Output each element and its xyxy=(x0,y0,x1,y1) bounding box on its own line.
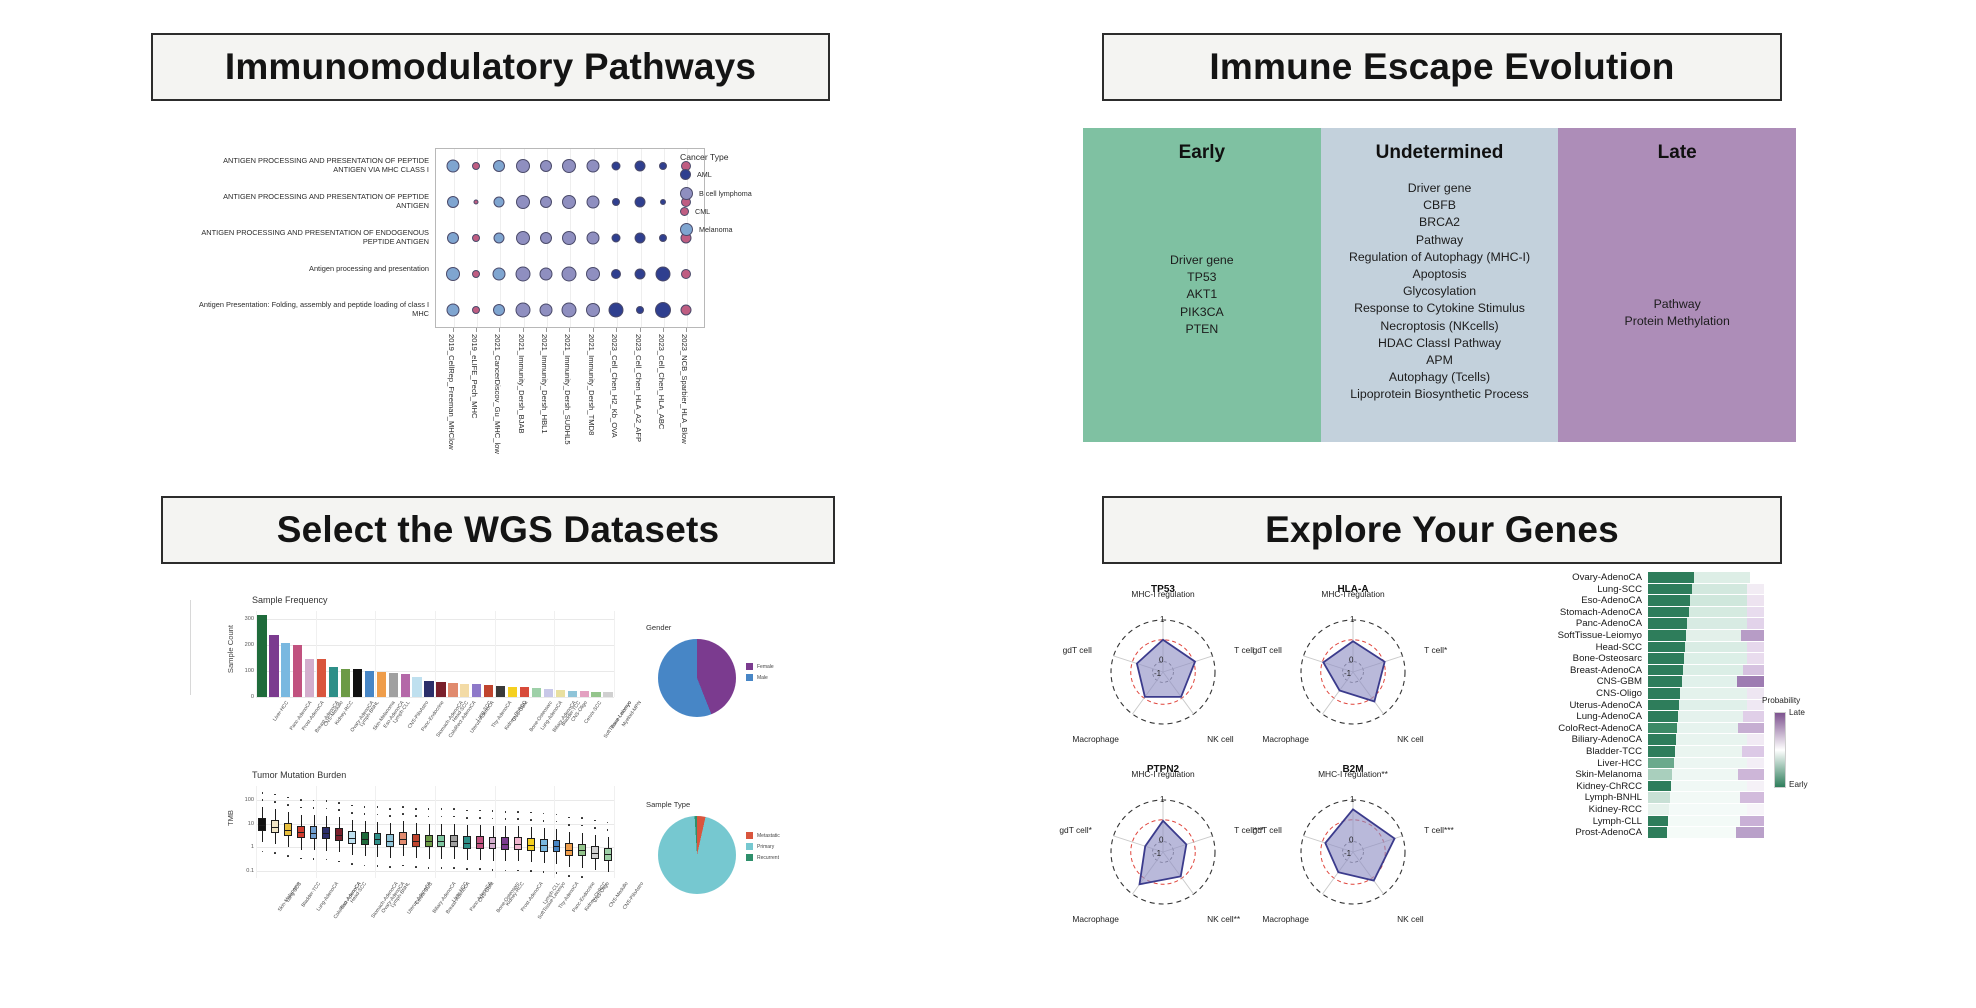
boxplot-outlier xyxy=(351,863,353,865)
pie-legend: MetastaticPrimaryRecurrent xyxy=(746,832,780,865)
heatmap-row[interactable] xyxy=(1648,711,1764,722)
escape-column-header: Early xyxy=(1083,142,1321,164)
bar[interactable] xyxy=(365,671,374,697)
legend-item[interactable]: CML xyxy=(680,207,752,216)
heatmap-row-label: Lymph-CLL xyxy=(1593,816,1642,827)
dotplot-x-tick xyxy=(663,328,664,332)
heatmap-segment xyxy=(1684,653,1747,664)
heatmap-row[interactable] xyxy=(1648,630,1764,641)
heatmap-row[interactable] xyxy=(1648,665,1764,676)
boxplot-outlier xyxy=(466,817,468,819)
boxplot-median xyxy=(335,835,343,836)
heatmap-segment xyxy=(1747,584,1764,595)
legend-item[interactable]: Male xyxy=(746,674,774,681)
escape-item: Regulation of Autophagy (MHC-I) xyxy=(1321,249,1559,266)
bar[interactable] xyxy=(544,689,553,697)
boxplot-outlier xyxy=(441,808,443,810)
dotplot-dot xyxy=(493,160,505,172)
chart-title: Sample Frequency xyxy=(252,595,328,605)
dotplot-dot xyxy=(493,268,506,281)
dotplot-dot xyxy=(516,195,530,209)
dotplot-x-tick xyxy=(499,328,500,332)
heatmap-segment xyxy=(1740,792,1764,803)
dotplot-x-tick xyxy=(616,328,617,332)
dotplot-dot xyxy=(611,269,621,279)
dotplot-column-label: 2023_Cell_Chen_H2_Kb_OVA xyxy=(610,334,619,438)
dotplot-x-tick xyxy=(593,328,594,332)
legend-item[interactable]: B cell lymphoma xyxy=(680,187,752,200)
dotplot-dot xyxy=(586,196,599,209)
heatmap-segment xyxy=(1675,746,1742,757)
banner-title: Select the WGS Datasets xyxy=(277,509,720,551)
heatmap-segment xyxy=(1743,711,1764,722)
heatmap-segment xyxy=(1747,642,1764,653)
boxplot-outlier xyxy=(287,804,289,806)
boxplot-outlier xyxy=(505,811,507,813)
heatmap-row-label: Breast-AdenoCA xyxy=(1570,665,1642,676)
boxplot-median xyxy=(412,841,420,842)
dotplot-x-tick xyxy=(476,328,477,332)
boxplot-median xyxy=(450,841,458,842)
bar[interactable] xyxy=(377,672,386,697)
bar[interactable] xyxy=(496,686,505,697)
boxplot-outlier xyxy=(415,815,417,817)
legend-item[interactable]: AML xyxy=(680,169,752,180)
heatmap-segment xyxy=(1743,665,1764,676)
radar-axis-label: Macrophage xyxy=(1262,734,1309,744)
heatmap-segment xyxy=(1747,618,1764,629)
legend-item-label: Recurrent xyxy=(757,855,779,861)
bar[interactable] xyxy=(532,688,541,697)
gridline xyxy=(554,611,555,697)
dotplot-dot xyxy=(586,232,599,245)
bar[interactable] xyxy=(472,684,481,697)
heatmap-segment xyxy=(1747,734,1764,745)
svg-text:1: 1 xyxy=(1350,795,1355,804)
radar-svg: 0-11 xyxy=(1068,760,1258,930)
heatmap-row[interactable] xyxy=(1648,607,1764,618)
dotplot-dot xyxy=(493,304,505,316)
heatmap-segment xyxy=(1741,630,1764,641)
legend-item[interactable]: Metastatic xyxy=(746,832,780,839)
dotplot-dot xyxy=(609,303,624,318)
boxplot-outlier xyxy=(492,818,494,820)
dotplot-column-label: 2023_Cell_Chen_HLA_ABC xyxy=(657,334,666,429)
bar[interactable] xyxy=(520,687,529,697)
bar[interactable] xyxy=(317,659,326,697)
boxplot-outlier xyxy=(466,810,468,812)
heatmap-row[interactable] xyxy=(1648,827,1764,838)
boxplot-outlier xyxy=(441,816,443,818)
dotplot-dot xyxy=(562,303,577,318)
heatmap-segment xyxy=(1677,723,1738,734)
heatmap-row[interactable] xyxy=(1648,653,1764,664)
escape-column-undetermined[interactable]: UndeterminedDriver geneCBFBBRCA2PathwayR… xyxy=(1321,128,1559,442)
heatmap-row[interactable] xyxy=(1648,618,1764,629)
heatmap-segment xyxy=(1648,769,1672,780)
heatmap-row-label: SoftTissue-Leiomyo xyxy=(1558,630,1642,641)
boxplot-outlier xyxy=(287,797,289,799)
escape-item: Driver gene xyxy=(1321,180,1559,197)
legend-color-swatch xyxy=(746,832,753,839)
gridline xyxy=(435,786,436,878)
dotplot-dot xyxy=(540,268,553,281)
boxplot-median xyxy=(604,854,612,855)
colorbar-high-label: Late xyxy=(1789,708,1805,717)
chart-title: Gender xyxy=(646,623,671,632)
y-tick-label: 200 xyxy=(240,642,254,648)
boxplot-outlier xyxy=(428,867,430,869)
escape-column-late[interactable]: LatePathwayProtein Methylation xyxy=(1558,128,1796,442)
heatmap-row[interactable] xyxy=(1648,746,1764,757)
heatmap-row-label: Prost-AdenoCA xyxy=(1575,827,1642,838)
timing-heatmap[interactable]: Ovary-AdenoCALung-SCCEso-AdenoCAStomach-… xyxy=(1498,572,1798,912)
svg-text:-1: -1 xyxy=(1344,849,1352,858)
heatmap-segment xyxy=(1648,723,1677,734)
bar[interactable] xyxy=(508,687,517,697)
boxplot-outlier xyxy=(466,868,468,870)
heatmap-row[interactable] xyxy=(1648,572,1764,583)
radar-axis-label: gdT cell xyxy=(1253,645,1282,655)
legend-color-swatch xyxy=(746,674,753,681)
bar[interactable] xyxy=(257,615,266,697)
boxplot-outlier xyxy=(441,867,443,869)
boxplot-outlier xyxy=(338,809,340,811)
dotplot-column-label: 2021_Immunity_Dersh_HBL1 xyxy=(540,334,549,434)
heatmap-row[interactable] xyxy=(1648,769,1764,780)
heatmap-row-label: Lymph-BNHL xyxy=(1585,792,1642,803)
heatmap-segment xyxy=(1648,711,1678,722)
heatmap-segment xyxy=(1648,630,1686,641)
dotplot-x-tick xyxy=(686,328,687,332)
boxplot-outlier xyxy=(274,852,276,854)
gridline xyxy=(256,697,614,698)
escape-item: Driver gene xyxy=(1083,252,1321,269)
heatmap-segment xyxy=(1679,700,1746,711)
escape-column-items: PathwayProtein Methylation xyxy=(1558,296,1796,330)
bar[interactable] xyxy=(389,673,398,697)
heatmap-segment xyxy=(1747,758,1764,769)
heatmap-row[interactable] xyxy=(1648,584,1764,595)
svg-text:1: 1 xyxy=(1160,615,1165,624)
dotplot-dot xyxy=(681,305,692,316)
heatmap-row-label: CNS-Oligo xyxy=(1596,688,1642,699)
bar[interactable] xyxy=(484,685,493,697)
boxplot-median xyxy=(553,846,561,847)
radar-chart-hla-a[interactable]: HLA-A0-11MHC-I regulationT cell*NK cellM… xyxy=(1258,580,1448,750)
boxplot-outlier xyxy=(326,808,328,810)
heatmap-segment xyxy=(1738,723,1764,734)
dotplot-dot xyxy=(472,234,480,242)
dotplot-dot xyxy=(472,306,480,314)
heatmap-segment xyxy=(1648,688,1680,699)
boxplot-median xyxy=(271,827,279,828)
bar[interactable] xyxy=(436,682,445,697)
boxplot-outlier xyxy=(556,872,558,874)
heatmap-segment xyxy=(1674,758,1747,769)
boxplot-outlier xyxy=(581,876,583,878)
gridline xyxy=(495,786,496,878)
tumor-mutation-burden-chart[interactable]: Tumor Mutation Burden TMB 0.1110100 Skin… xyxy=(228,770,618,935)
boxplot-outlier xyxy=(428,816,430,818)
heatmap-segment xyxy=(1694,572,1750,583)
boxplot-outlier xyxy=(338,861,340,863)
radar-axis-label: gdT cell xyxy=(1253,825,1282,835)
radar-axis-label: NK cell xyxy=(1207,734,1234,744)
boxplot-outlier xyxy=(313,858,315,860)
panel-divider xyxy=(190,600,191,695)
sample-frequency-chart[interactable]: Sample Frequency Sample Count 0100200300… xyxy=(228,595,618,750)
boxplot-outlier xyxy=(364,813,366,815)
boxplot-outlier xyxy=(415,808,417,810)
dotplot-dot xyxy=(540,160,552,172)
heatmap-segment xyxy=(1747,804,1764,815)
heatmap-row-label: Liver-HCC xyxy=(1597,758,1642,769)
dotplot-dot xyxy=(446,160,459,173)
dotplot-x-tick xyxy=(523,328,524,332)
dotplot-row-label: ANTIGEN PROCESSING AND PRESENTATION OF P… xyxy=(195,156,429,174)
heatmap-segment xyxy=(1686,630,1741,641)
boxplot-outlier xyxy=(351,812,353,814)
boxplot-outlier xyxy=(402,865,404,867)
svg-text:-1: -1 xyxy=(1344,669,1352,678)
bar[interactable] xyxy=(556,690,565,697)
boxplot-outlier xyxy=(300,799,302,801)
boxplot-outlier xyxy=(543,820,545,822)
dotplot-dot xyxy=(636,306,644,314)
escape-item: Pathway xyxy=(1321,232,1559,249)
legend-item[interactable]: Female xyxy=(746,663,774,670)
radar-axis-label: Macrophage xyxy=(1072,734,1119,744)
boxplot-outlier xyxy=(364,806,366,808)
legend-item[interactable]: Primary xyxy=(746,843,780,850)
dotplot-dot xyxy=(586,267,600,281)
dotplot-column-label: 2023_Cell_Chen_HLA_A2_AFP xyxy=(634,334,643,442)
heatmap-segment xyxy=(1680,688,1746,699)
heatmap-segment xyxy=(1672,769,1738,780)
heatmap-segment xyxy=(1676,734,1747,745)
heatmap-row-label: Bladder-TCC xyxy=(1586,746,1642,757)
boxplot-outlier xyxy=(556,821,558,823)
heatmap-row-label: Kidney-RCC xyxy=(1589,804,1642,815)
boxplot-outlier xyxy=(326,859,328,861)
escape-item: Protein Methylation xyxy=(1558,313,1796,330)
boxplot-outlier xyxy=(568,875,570,877)
escape-column-items: Driver geneCBFBBRCA2PathwayRegulation of… xyxy=(1321,180,1559,404)
heatmap-segment xyxy=(1648,781,1671,792)
legend-color-dot xyxy=(680,187,693,200)
heatmap-row[interactable] xyxy=(1648,723,1764,734)
boxplot-outlier xyxy=(402,813,404,815)
boxplot-outlier xyxy=(581,817,583,819)
boxplot-outlier xyxy=(453,808,455,810)
heatmap-row-label: Biliary-AdenoCA xyxy=(1572,734,1642,745)
radar-chart-ptpn2[interactable]: PTPN20-11MHC-I regulationT cell***NK cel… xyxy=(1068,760,1258,930)
gridline xyxy=(614,786,615,878)
boxplot-outlier xyxy=(530,870,532,872)
bar[interactable] xyxy=(424,681,433,697)
dotplot-dot xyxy=(446,267,460,281)
dotplot-dot xyxy=(515,303,530,318)
boxplot-median xyxy=(386,841,394,842)
bar[interactable] xyxy=(412,677,421,697)
bar[interactable] xyxy=(305,659,314,697)
boxplot-median xyxy=(425,841,433,842)
dotplot-dot xyxy=(655,302,671,318)
bar[interactable] xyxy=(329,667,338,697)
boxplot-outlier xyxy=(492,810,494,812)
radar-axis-label: T cell xyxy=(1234,645,1254,655)
banner-select-wgs-datasets[interactable]: Select the WGS Datasets xyxy=(161,496,835,564)
heatmap-row-label: ColoRect-AdenoCA xyxy=(1558,723,1642,734)
banner-immune-escape-evolution[interactable]: Immune Escape Evolution xyxy=(1102,33,1782,101)
sample-type-pie-chart[interactable]: Sample Type MetastaticPrimaryRecurrent xyxy=(640,800,810,920)
colorbar-gradient xyxy=(1774,712,1786,788)
heatmap-row[interactable] xyxy=(1648,758,1764,769)
dotplot-dot xyxy=(447,232,459,244)
boxplot-outlier xyxy=(377,806,379,808)
escape-column-header: Late xyxy=(1558,142,1796,164)
radar-axis-label: Macrophage xyxy=(1072,914,1119,924)
radar-chart-b2m[interactable]: B2M0-11MHC-I regulation**T cell***NK cel… xyxy=(1258,760,1448,930)
heatmap-segment xyxy=(1747,653,1764,664)
heatmap-segment xyxy=(1648,827,1667,838)
heatmap-segment xyxy=(1667,827,1737,838)
boxplot-outlier xyxy=(530,819,532,821)
dotplot-dot xyxy=(562,267,577,282)
dotplot-column-label: 2021_Immunity_Dersh_SUDHL5 xyxy=(563,334,572,445)
boxplot-median xyxy=(374,839,382,840)
bar[interactable] xyxy=(603,692,612,697)
y-axis-title: Sample Count xyxy=(226,625,235,673)
radar-axis-label: MHC-I regulation xyxy=(1131,769,1194,779)
heatmap-row[interactable] xyxy=(1648,792,1764,803)
dotplot-dot xyxy=(586,160,599,173)
svg-text:-1: -1 xyxy=(1154,669,1162,678)
heatmap-row[interactable] xyxy=(1648,700,1764,711)
legend-item-label: CML xyxy=(695,207,710,216)
y-axis-title: TMB xyxy=(226,810,235,826)
heatmap-row[interactable] xyxy=(1648,688,1764,699)
boxplot-outlier xyxy=(479,868,481,870)
radar-polygon xyxy=(1325,809,1394,880)
bar[interactable] xyxy=(448,683,457,697)
dotplot-dot xyxy=(516,159,530,173)
escape-column-early[interactable]: EarlyDriver geneTP53AKT1PIK3CAPTEN xyxy=(1083,128,1321,442)
legend-item[interactable]: Recurrent xyxy=(746,854,780,861)
legend-color-dot xyxy=(680,223,693,236)
pie-legend: FemaleMale xyxy=(746,663,774,685)
legend-item-label: AML xyxy=(697,170,712,179)
dotplot-column-label: 2019_CellRep_Freeman_MHClow xyxy=(447,334,456,450)
heatmap-row-label: Skin-Melanoma xyxy=(1575,769,1642,780)
y-tick-label: 1 xyxy=(236,844,254,850)
boxplot-outlier xyxy=(568,817,570,819)
boxplot-outlier xyxy=(262,851,264,853)
boxplot-median xyxy=(399,839,407,840)
svg-text:0: 0 xyxy=(1349,836,1354,845)
dotplot-dot xyxy=(494,233,505,244)
boxplot-outlier xyxy=(377,865,379,867)
heatmap-segment xyxy=(1690,595,1747,606)
banner-explore-your-genes[interactable]: Explore Your Genes xyxy=(1102,496,1782,564)
legend-item[interactable]: Melanoma xyxy=(680,223,752,236)
dotplot-dot xyxy=(494,197,505,208)
bar[interactable] xyxy=(293,645,302,697)
bar[interactable] xyxy=(341,669,350,697)
legend-title: Cancer Type xyxy=(680,152,752,162)
heatmap-row[interactable] xyxy=(1648,781,1764,792)
bar[interactable] xyxy=(353,669,362,697)
dotplot-column-label: 2021_Immunity_Dersh_BJAB xyxy=(517,334,526,434)
wgs-dashboard: Sample Frequency Sample Count 0100200300… xyxy=(190,595,810,935)
bar[interactable] xyxy=(460,684,469,697)
legend-item-label: Melanoma xyxy=(699,225,733,234)
boxplot-outlier xyxy=(428,808,430,810)
boxplot-median xyxy=(489,843,497,844)
dotplot-x-tick xyxy=(569,328,570,332)
heatmap-segment xyxy=(1740,816,1764,827)
radar-svg: 0-11 xyxy=(1258,580,1448,750)
gender-pie-chart[interactable]: Gender FemaleMale xyxy=(640,623,810,743)
dotplot-dot xyxy=(612,234,621,243)
dotplot-dot xyxy=(472,270,480,278)
bar[interactable] xyxy=(401,674,410,697)
bar[interactable] xyxy=(568,691,577,698)
dotplot-row-label: ANTIGEN PROCESSING AND PRESENTATION OF P… xyxy=(195,192,429,210)
boxplot-median xyxy=(591,853,599,854)
legend-color-swatch xyxy=(746,663,753,670)
bar[interactable] xyxy=(580,691,589,697)
dashboard-page: Immunomodulatory Pathways Immune Escape … xyxy=(0,0,1976,1008)
boxplot-outlier xyxy=(505,818,507,820)
bar[interactable] xyxy=(281,643,290,697)
heatmap-segment xyxy=(1648,804,1669,815)
escape-item: Lipoprotein Biosynthetic Process xyxy=(1321,386,1559,403)
radar-axis-label: NK cell xyxy=(1397,734,1424,744)
heatmap-row[interactable] xyxy=(1648,816,1764,827)
heatmap-segment xyxy=(1670,792,1740,803)
heatmap-segment xyxy=(1692,584,1747,595)
heatmap-row[interactable] xyxy=(1648,595,1764,606)
heatmap-row[interactable] xyxy=(1648,676,1764,687)
boxplot-median xyxy=(284,830,292,831)
heatmap-segment xyxy=(1648,734,1676,745)
heatmap-segment xyxy=(1648,746,1675,757)
radar-polygon xyxy=(1323,641,1384,701)
heatmap-row-label: Ovary-AdenoCA xyxy=(1572,572,1642,583)
bar[interactable] xyxy=(591,692,600,697)
escape-item: AKT1 xyxy=(1083,286,1321,303)
svg-text:-1: -1 xyxy=(1154,849,1162,858)
heatmap-row-label: Stomach-AdenoCA xyxy=(1560,607,1642,618)
svg-text:0: 0 xyxy=(1159,656,1164,665)
radar-chart-tp53[interactable]: TP530-11MHC-I regulationT cellNK cellMac… xyxy=(1068,580,1258,750)
heatmap-row[interactable] xyxy=(1648,642,1764,653)
heatmap-segment xyxy=(1747,607,1764,618)
heatmap-row-label: Head-SCC xyxy=(1596,642,1642,653)
dotplot-x-tick xyxy=(453,328,454,332)
boxplot-outlier xyxy=(313,807,315,809)
heatmap-segment xyxy=(1742,746,1764,757)
boxplot-outlier xyxy=(453,816,455,818)
heatmap-row[interactable] xyxy=(1648,804,1764,815)
bar[interactable] xyxy=(269,635,278,697)
escape-item: HDAC ClassI Pathway xyxy=(1321,335,1559,352)
boxplot-median xyxy=(437,841,445,842)
dotplot-dot xyxy=(612,198,620,206)
heatmap-row[interactable] xyxy=(1648,734,1764,745)
